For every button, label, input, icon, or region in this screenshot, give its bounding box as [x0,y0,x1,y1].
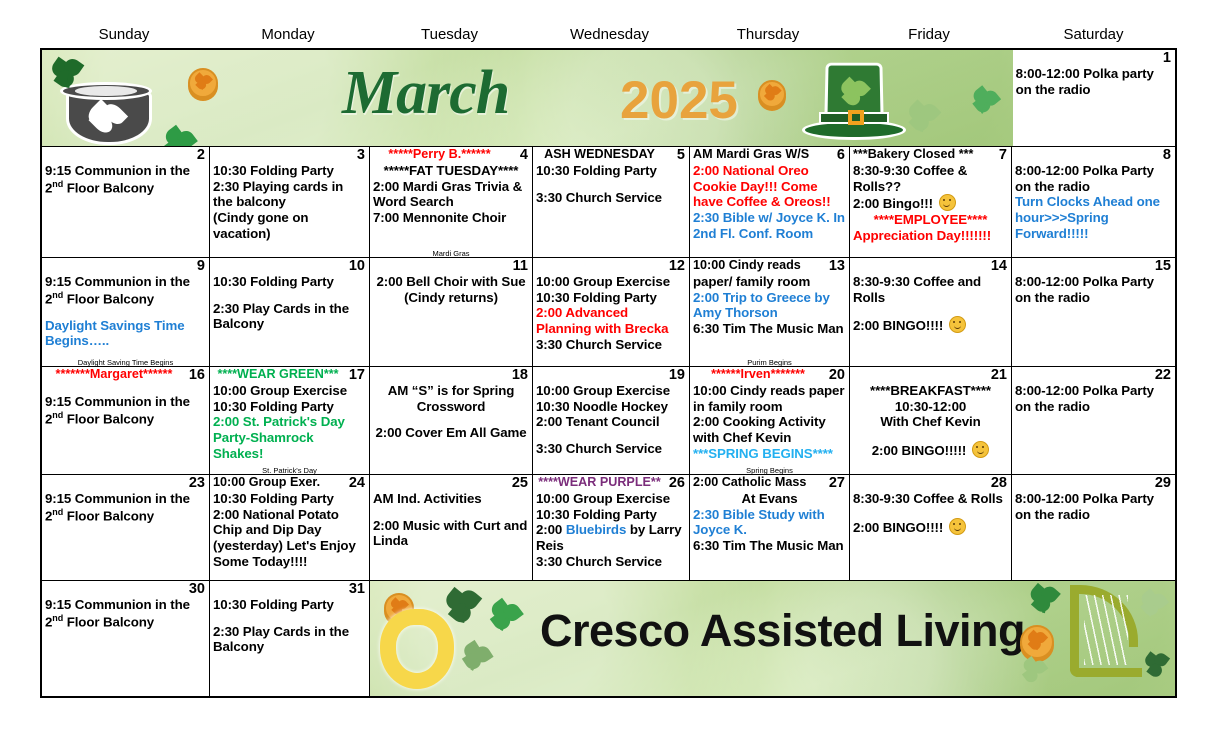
event-item: 9:15 Communion in the 2nd Floor Balcony [45,274,206,307]
event-item: 2:00 Bell Choir with Sue [373,274,529,290]
event-item: 3:30 Church Service [536,337,686,353]
event-list: AM Ind. Activities2:00 Music with Curt a… [373,491,529,549]
holiday-note: Daylight Saving Time Begins [45,359,206,367]
event-item: 2:00 Tenant Council [536,414,686,430]
event-item: 2:00 BINGO!!!! [853,316,1008,334]
event-item: 2:00 Mardi Gras Trivia & Word Search [373,179,529,210]
day-cell-18[interactable]: 18AM “S” is for Spring Crossword2:00 Cov… [370,367,533,475]
event-item: 2:00 Bluebirds by Larry Reis [536,522,686,553]
smiley-face-icon [939,194,956,211]
cell-header-label: *******Margaret****** [45,367,183,381]
smiley-face-icon [972,441,989,458]
weekday-tuesday: Tuesday [368,26,531,43]
event-list: 10:30 Folding Party2:30 Play Cards in th… [213,597,366,655]
day-number: 24 [349,475,365,492]
day-number: 2 [197,147,205,164]
horseshoe-icon [380,609,454,689]
event-list: 9:15 Communion in the 2nd Floor Balcony [45,491,206,524]
event-list: 8:30-9:30 Coffee & Rolls2:00 BINGO!!!! [853,491,1008,535]
event-item: 9:15 Communion in the 2nd Floor Balcony [45,394,206,427]
cell-header-label: ASH WEDNESDAY [536,147,663,161]
event-item: 10:30 Folding Party [213,597,366,613]
event-item: 2:00 St. Patrick's Day Party-Shamrock Sh… [213,414,366,461]
event-item: 2:00 Cover Em All Game [373,425,529,441]
event-list: 10:00 Group Exercise10:30 Folding Party2… [536,491,686,569]
event-item: 8:00-12:00 Polka Party on the radio [1015,491,1172,522]
event-item: 2:00 Advanced Planning with Brecka [536,305,686,336]
event-item: 7:00 Mennonite Choir [373,210,529,226]
event-list: 2:00 Bell Choir with Sue(Cindy returns) [373,274,529,305]
shamrock-icon [488,599,522,633]
event-spacer [853,430,1008,441]
day-number: 19 [669,367,685,384]
event-item: 10:30 Folding Party [536,163,686,179]
shamrock-icon [1020,657,1047,684]
event-item: 8:30-9:30 Coffee & Rolls [853,491,1008,507]
year-title: 2025 [620,70,738,131]
weekday-friday: Friday [848,26,1010,43]
event-item: 10:00 Cindy reads paper in family room [693,383,846,414]
event-item: 10:00 Group Exercise [536,274,686,290]
cell-header-label: AM Mardi Gras W/S [693,147,823,161]
day-cell-7[interactable]: ***Bakery Closed ***78:30-9:30 Coffee & … [850,147,1012,258]
event-item: 8:00-12:00 Polka party on the radio [1016,66,1172,97]
day-number: 31 [349,581,365,598]
calendar-grid: March202518:00-12:00 Polka party on the … [40,48,1177,698]
event-list: 8:30-9:30 Coffee & Rolls??2:00 Bingo!!!*… [853,163,1008,243]
cell-header-label: ****WEAR PURPLE** [536,475,663,489]
day-number: 1 [1163,50,1171,67]
event-list: 10:00 Group Exercise10:30 Folding Party2… [536,274,686,352]
event-item: (Cindy returns) [373,290,529,306]
facility-name-banner: Cresco Assisted Living [370,581,1175,696]
event-item: 2:00 Music with Curt and Linda [373,518,529,549]
cell-header-label: 10:00 Cindy reads [693,258,823,272]
event-item: 6:30 Tim The Music Man [693,538,846,554]
day-number: 16 [189,367,205,384]
event-list: 8:00-12:00 Polka party on the radio [1016,66,1172,97]
event-list: 10:00 Cindy reads paper in family room2:… [693,383,846,461]
event-item: 2:00 National Potato Chip and Dip Day (y… [213,507,366,570]
event-list: At Evans2:30 Bible Study with Joyce K.6:… [693,491,846,554]
event-item: (Cindy gone on vacation) [213,210,366,241]
day-cell-14[interactable]: 148:30-9:30 Coffee and Rolls2:00 BINGO!!… [850,258,1012,367]
day-number: 7 [999,147,1007,164]
day-number: 20 [829,367,845,384]
weekday-monday: Monday [208,26,368,43]
day-number: 18 [512,367,528,384]
event-item: 10:30 Folding Party [213,163,366,179]
month-title-banner: March2025 [42,50,1013,147]
day-cell-24[interactable]: 10:00 Group Exer.2410:30 Folding Party2:… [210,475,370,581]
day-number: 4 [520,147,528,164]
cell-header-label: 10:00 Group Exer. [213,475,343,489]
day-cell-30[interactable]: 309:15 Communion in the 2nd Floor Balcon… [42,581,210,696]
event-item: 10:00 Group Exercise [536,383,686,399]
event-item: AM Ind. Activities [373,491,529,507]
week-row: 29:15 Communion in the 2nd Floor Balcony… [42,147,1175,258]
day-cell-6[interactable]: AM Mardi Gras W/S62:00 National Oreo Coo… [690,147,850,258]
day-cell-28[interactable]: 288:30-9:30 Coffee & Rolls2:00 BINGO!!!! [850,475,1012,581]
week-row: 99:15 Communion in the 2nd Floor Balcony… [42,258,1175,367]
day-number: 5 [677,147,685,164]
event-item: 2:30 Bible w/ Joyce K. In 2nd Fl. Conf. … [693,210,846,241]
event-list: 8:00-12:00 Polka Party on the radioTurn … [1015,163,1172,241]
day-cell-27[interactable]: 2:00 Catholic Mass27At Evans2:30 Bible S… [690,475,850,581]
event-spacer [373,414,529,425]
event-list: AM “S” is for Spring Crossword2:00 Cover… [373,383,529,441]
event-list: 10:30 Folding Party2:00 National Potato … [213,491,366,569]
shamrock-icon [908,102,938,132]
day-cell-5[interactable]: ASH WEDNESDAY510:30 Folding Party3:30 Ch… [533,147,690,258]
leprechaun-hat-icon [802,62,906,140]
day-cell-22[interactable]: 228:00-12:00 Polka Party on the radio [1012,367,1175,475]
day-number: 10 [349,258,365,275]
event-item: 10:30 Noodle Hockey [536,399,686,415]
shamrock-icon [971,87,1000,116]
day-cell-25[interactable]: 25AM Ind. Activities2:00 Music with Curt… [370,475,533,581]
event-item: 2:00 Bingo!!! [853,194,1008,212]
event-item: 8:00-12:00 Polka Party on the radio [1015,383,1172,414]
event-list: 10:30 Folding Party2:30 Play Cards in th… [213,274,366,332]
event-item: ****EMPLOYEE**** [853,212,1008,228]
cell-header-label: ******Irven******* [693,367,823,381]
event-item: 2:00 National Oreo Cookie Day!!! Come ha… [693,163,846,210]
shamrock-icon [162,126,196,147]
weekday-sunday: Sunday [40,26,208,43]
weekday-wednesday: Wednesday [531,26,688,43]
day-cell-21[interactable]: 21****BREAKFAST****10:30-12:00With Chef … [850,367,1012,475]
event-item: 2:30 Playing cards in the balcony [213,179,366,210]
day-cell-13[interactable]: 10:00 Cindy reads13paper/ family room2:0… [690,258,850,367]
event-item: 6:30 Tim The Music Man [693,321,846,337]
day-cell-26[interactable]: ****WEAR PURPLE**2610:00 Group Exercise1… [533,475,690,581]
day-cell-12[interactable]: 1210:00 Group Exercise10:30 Folding Part… [533,258,690,367]
event-item: 10:00 Group Exercise [536,491,686,507]
weekday-thursday: Thursday [688,26,848,43]
holiday-note: St. Patrick's Day [213,467,366,475]
weekday-saturday: Saturday [1010,26,1177,43]
day-cell-15[interactable]: 158:00-12:00 Polka Party on the radio [1012,258,1175,367]
day-cell-2[interactable]: 29:15 Communion in the 2nd Floor Balcony [42,147,210,258]
cell-header-label: 2:00 Catholic Mass [693,475,823,489]
event-spacer [373,507,529,518]
week-row: March202518:00-12:00 Polka party on the … [42,50,1175,147]
event-item: At Evans [693,491,846,507]
cell-header-label: ****WEAR GREEN*** [213,367,343,381]
event-item: 2:00 BINGO!!!! [853,518,1008,536]
event-list: 8:00-12:00 Polka Party on the radio [1015,383,1172,414]
event-item: 2:00 BINGO!!!!! [853,441,1008,459]
event-list: 9:15 Communion in the 2nd Floor BalconyD… [45,274,206,349]
cell-header-label: *****Perry B.****** [373,147,506,161]
day-cell-19[interactable]: 1910:00 Group Exercise10:30 Noodle Hocke… [533,367,690,475]
day-cell-29[interactable]: 298:00-12:00 Polka Party on the radio [1012,475,1175,581]
event-item: ****BREAKFAST**** [853,383,1008,399]
day-number: 8 [1163,147,1171,164]
event-item: 2:30 Bible Study with Joyce K. [693,507,846,538]
event-item: 10:30 Folding Party [536,507,686,523]
event-list: 9:15 Communion in the 2nd Floor Balcony [45,163,206,196]
day-cell-20[interactable]: ******Irven*******2010:00 Cindy reads pa… [690,367,850,475]
holiday-note: Spring Begins [693,467,846,475]
day-number: 23 [189,475,205,492]
day-number: 22 [1155,367,1171,384]
day-number: 12 [669,258,685,275]
event-item: 8:00-12:00 Polka Party on the radio [1015,163,1172,194]
event-item: With Chef Kevin [853,414,1008,430]
day-number: 21 [991,367,1007,384]
holiday-note: Mardi Gras [373,250,529,258]
event-item: 9:15 Communion in the 2nd Floor Balcony [45,163,206,196]
event-item: 10:30 Folding Party [213,491,366,507]
event-list: 10:00 Group Exercise10:30 Noodle Hockey2… [536,383,686,457]
day-cell-11[interactable]: 112:00 Bell Choir with Sue(Cindy returns… [370,258,533,367]
event-item: 3:30 Church Service [536,190,686,206]
event-item: 3:30 Church Service [536,554,686,570]
shamrock-icon [50,56,85,91]
day-number: 3 [357,147,365,164]
event-list: 10:00 Group Exercise10:30 Folding Party2… [213,383,366,461]
day-number: 14 [991,258,1007,275]
day-number: 15 [1155,258,1171,275]
event-list: 10:30 Folding Party2:30 Playing cards in… [213,163,366,241]
event-spacer [853,305,1008,316]
harp-icon [1070,585,1142,677]
event-item: AM “S” is for Spring Crossword [373,383,529,414]
event-item: ***SPRING BEGINS**** [693,446,846,462]
week-row: *******Margaret******169:15 Communion in… [42,367,1175,475]
day-number: 6 [837,147,845,164]
event-item: *****FAT TUESDAY**** [373,163,529,179]
event-item: 10:30 Folding Party [536,290,686,306]
day-cell-8[interactable]: 88:00-12:00 Polka Party on the radioTurn… [1012,147,1175,258]
day-number: 27 [829,475,845,492]
day-cell-4[interactable]: *****Perry B.******4*****FAT TUESDAY****… [370,147,533,258]
event-item: Appreciation Day!!!!!!! [853,228,1008,244]
event-item: 10:30 Folding Party [213,399,366,415]
holiday-note: Purim Begins [693,359,846,367]
event-item: 8:30-9:30 Coffee & Rolls?? [853,163,1008,194]
event-item: 2:00 Trip to Greece by Amy Thorson [693,290,846,321]
event-item: 10:00 Group Exercise [213,383,366,399]
event-item: 3:30 Church Service [536,441,686,457]
gold-coin-icon [188,68,218,98]
event-spacer [213,290,366,301]
day-cell-31[interactable]: 3110:30 Folding Party2:30 Play Cards in … [210,581,370,696]
day-cell-17[interactable]: ****WEAR GREEN***1710:00 Group Exercise1… [210,367,370,475]
event-item: 2:00 Cooking Activity with Chef Kevin [693,414,846,445]
event-item: Daylight Savings Time Begins….. [45,318,206,349]
day-number: 17 [349,367,365,384]
day-cell-16[interactable]: *******Margaret******169:15 Communion in… [42,367,210,475]
smiley-face-icon [949,518,966,535]
smiley-face-icon [949,316,966,333]
event-item: 2:30 Play Cards in the Balcony [213,301,366,332]
shamrock-icon [1143,651,1170,678]
event-item: 9:15 Communion in the 2nd Floor Balcony [45,491,206,524]
day-number: 25 [512,475,528,492]
event-list: 8:00-12:00 Polka Party on the radio [1015,491,1172,522]
event-item: 10:30-12:00 [853,399,1008,415]
day-cell-9[interactable]: 99:15 Communion in the 2nd Floor Balcony… [42,258,210,367]
event-item: paper/ family room [693,274,846,290]
day-cell-10[interactable]: 1010:30 Folding Party2:30 Play Cards in … [210,258,370,367]
day-number: 28 [991,475,1007,492]
event-spacer [536,179,686,190]
gold-coin-icon [758,80,786,108]
calendar-page: Sunday Monday Tuesday Wednesday Thursday… [0,0,1219,731]
event-list: *****FAT TUESDAY****2:00 Mardi Gras Triv… [373,163,529,226]
day-cell-23[interactable]: 239:15 Communion in the 2nd Floor Balcon… [42,475,210,581]
day-number: 30 [189,581,205,598]
event-item: 2:30 Play Cards in the Balcony [213,624,366,655]
week-row: 239:15 Communion in the 2nd Floor Balcon… [42,475,1175,581]
event-spacer [536,430,686,441]
gold-coin-icon [1020,625,1054,659]
weekday-header-row: Sunday Monday Tuesday Wednesday Thursday… [40,26,1177,43]
day-number: 13 [829,258,845,275]
day-number: 9 [197,258,205,275]
day-number: 26 [669,475,685,492]
event-spacer [45,383,206,394]
month-title: March [342,58,509,129]
event-item: 8:30-9:30 Coffee and Rolls [853,274,1008,305]
day-number: 29 [1155,475,1171,492]
event-item: 9:15 Communion in the 2nd Floor Balcony [45,597,206,630]
event-list: ****BREAKFAST****10:30-12:00With Chef Ke… [853,383,1008,459]
day-number: 11 [513,258,528,275]
day-cell-1[interactable]: 18:00-12:00 Polka party on the radio [1013,50,1175,147]
shamrock-icon [444,587,481,624]
event-list: 8:30-9:30 Coffee and Rolls2:00 BINGO!!!! [853,274,1008,334]
event-list: 2:00 National Oreo Cookie Day!!! Come ha… [693,163,846,241]
week-row: 309:15 Communion in the 2nd Floor Balcon… [42,581,1175,696]
event-list: 9:15 Communion in the 2nd Floor Balcony [45,383,206,427]
event-list: 9:15 Communion in the 2nd Floor Balcony [45,597,206,630]
day-cell-3[interactable]: 310:30 Folding Party2:30 Playing cards i… [210,147,370,258]
event-list: paper/ family room2:00 Trip to Greece by… [693,274,846,337]
event-spacer [213,613,366,624]
event-spacer [853,507,1008,518]
event-list: 10:30 Folding Party3:30 Church Service [536,163,686,205]
cell-header-label: ***Bakery Closed *** [853,147,985,161]
shamrock-icon [1029,584,1059,614]
event-list: 8:00-12:00 Polka Party on the radio [1015,274,1172,305]
event-item: Turn Clocks Ahead one hour>>>Spring Forw… [1015,194,1172,241]
facility-name: Cresco Assisted Living [540,605,1025,657]
shamrock-icon [459,640,492,673]
event-item: 10:30 Folding Party [213,274,366,290]
event-item: 8:00-12:00 Polka Party on the radio [1015,274,1172,305]
event-spacer [45,307,206,318]
shamrock-icon [1139,590,1168,619]
